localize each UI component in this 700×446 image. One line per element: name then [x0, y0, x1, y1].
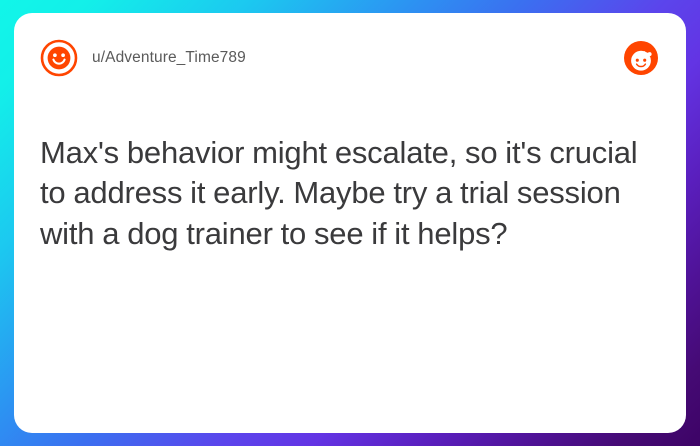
author-username[interactable]: u/Adventure_Time789: [92, 49, 246, 67]
screenshot-root: u/Adventure_Time789 Max's behavior might…: [0, 0, 700, 446]
card-header: u/Adventure_Time789: [40, 35, 660, 81]
comment-body-text: Max's behavior might escalate, so it's c…: [40, 133, 646, 254]
reddit-comment-card: u/Adventure_Time789 Max's behavior might…: [14, 13, 686, 433]
avatar[interactable]: [40, 39, 78, 77]
smiley-face-avatar-icon: [40, 39, 78, 77]
card-body: Max's behavior might escalate, so it's c…: [40, 133, 660, 254]
reddit-snoo-logo-icon[interactable]: [624, 41, 658, 75]
